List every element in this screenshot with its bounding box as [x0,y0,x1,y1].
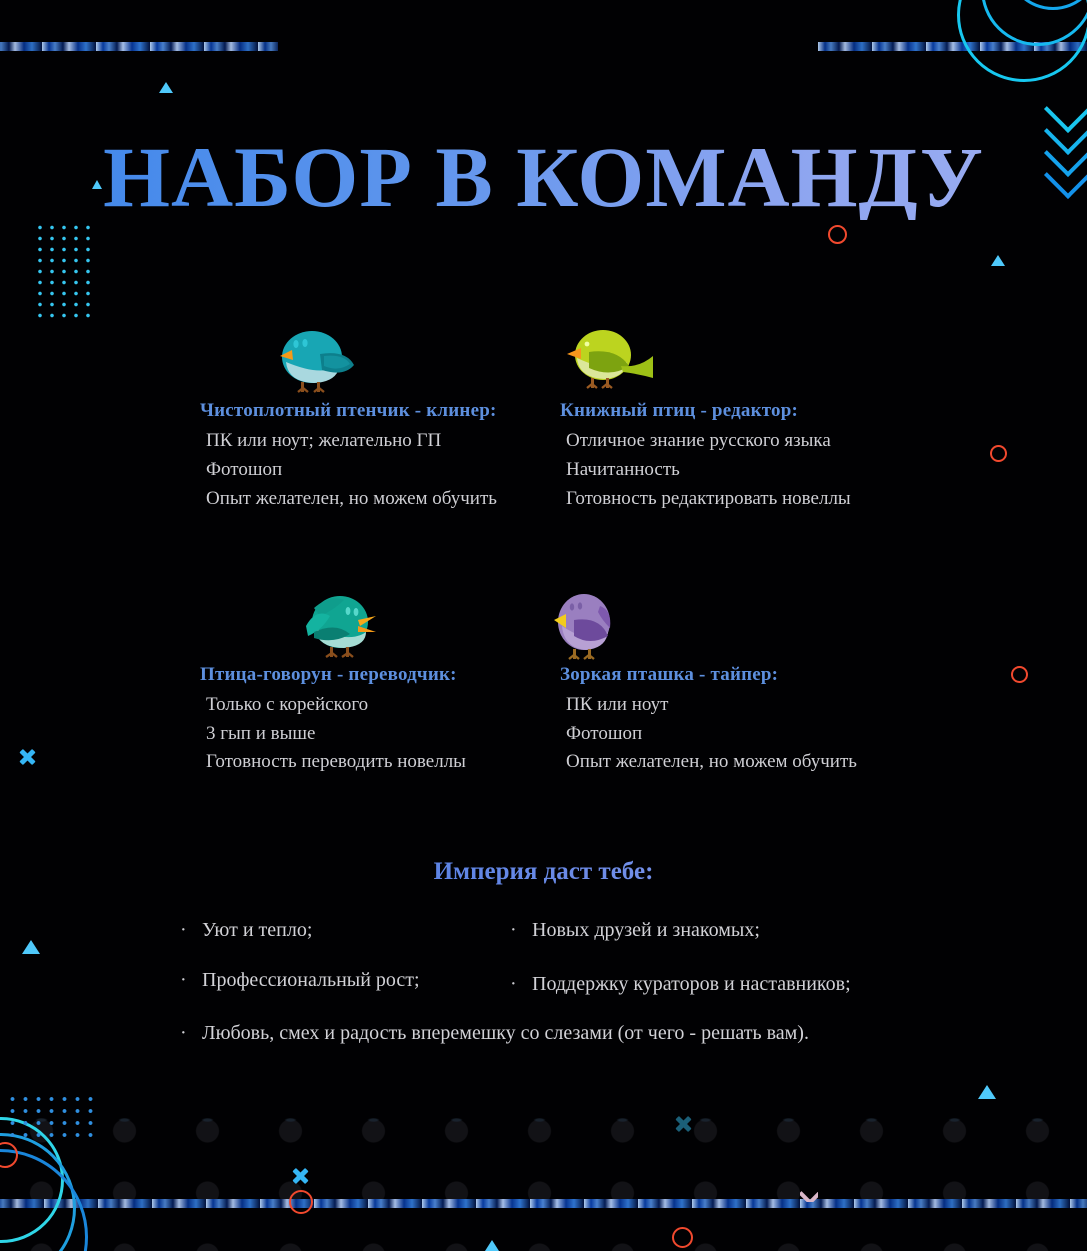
list-item: · Уют и тепло; [180,918,510,942]
concentric-ring-icon [1006,0,1087,10]
role-requirement: Фотошоп [566,720,960,749]
bullet-icon: · [180,968,202,992]
talking-bird-icon [200,586,560,658]
page-title: НАБОР В КОМАНДУ [0,134,1087,220]
texture-band-top-left [0,42,278,51]
teal-bird-icon [200,322,560,394]
role-requirement: Отличное знание русского языка [566,427,960,456]
triangle-icon [485,1240,499,1251]
perk-text: Любовь, смех и радость вперемешку со сле… [202,1022,809,1045]
role-card-editor: Книжный птиц - редактор: Отличное знание… [560,322,960,514]
role-requirement: Готовность редактировать новеллы [566,485,960,514]
role-title: Чистоплотный птенчик - клинер: [200,400,560,422]
bullet-icon: · [510,972,532,996]
chevron-down-icon [1051,92,1085,126]
purple-bird-icon [560,586,960,658]
concentric-ring-icon [981,0,1087,46]
triangle-icon [978,1085,996,1099]
list-item: · Профессиональный рост; [180,968,510,992]
list-item: · Новых друзей и знакомых; [510,918,930,942]
perks-title: Империя даст тебе: [0,858,1087,886]
role-requirement: Начитанность [566,456,960,485]
speck-row-pattern [0,1112,1087,1128]
role-card-translator: Птица-говорун - переводчик: Только с кор… [200,586,560,778]
bullet-icon: · [180,918,202,942]
role-requirement: 3 гып и выше [206,720,560,749]
dot-grid-bottom-left [6,1093,96,1143]
role-card-cleaner: Чистоплотный птенчик - клинер: ПК или но… [200,322,560,514]
perk-text: Профессиональный рост; [202,968,420,992]
role-requirement: Только с корейского [206,691,560,720]
perk-text: Новых друзей и знакомых; [532,918,760,942]
concentric-ring-icon [0,1149,88,1251]
role-requirement: ПК или ноут; желательно ГП [206,427,560,456]
texture-band-bottom [0,1199,1087,1208]
perks-section: · Уют и тепло; · Профессиональный рост; … [0,918,1087,1045]
list-item: · Поддержку кураторов и наставников; [510,972,930,996]
texture-band-top-right [818,42,1087,51]
roles-row-1: Чистоплотный птенчик - клинер: ПК или но… [0,322,1087,514]
perk-text: Поддержку кураторов и наставников; [532,972,851,996]
role-requirement: ПК или ноут [566,691,960,720]
perks-columns: · Уют и тепло; · Профессиональный рост; … [0,918,1087,1022]
x-mark-icon [291,1167,309,1185]
small-chevron-icon [800,1190,818,1202]
triangle-icon [991,255,1005,266]
polka-dot-pattern [0,1100,1087,1251]
roles-section: Чистоплотный птенчик - клинер: ПК или но… [0,322,1087,777]
role-requirement: Фотошоп [206,456,560,485]
circle-outline-icon [828,225,847,244]
green-bird-icon [560,322,960,394]
role-requirement: Опыт желателен, но можем обучить [206,485,560,514]
dot-grid-top-left [34,222,92,324]
concentric-ring-icon [0,1133,76,1251]
circle-outline-icon [672,1227,693,1248]
perks-column-left: · Уют и тепло; · Профессиональный рост; [180,918,510,1022]
bullet-icon: · [510,918,532,942]
bullet-icon: · [180,1022,202,1045]
role-requirement: Опыт желателен, но можем обучить [566,748,960,777]
role-title: Птица-говорун - переводчик: [200,664,560,686]
perks-column-right: · Новых друзей и знакомых; · Поддержку к… [510,918,930,1022]
concentric-ring-icon [957,0,1087,82]
roles-row-2: Птица-говорун - переводчик: Только с кор… [0,586,1087,778]
role-requirement: Готовность переводить новеллы [206,748,560,777]
perk-text: Уют и тепло; [202,918,312,942]
role-card-typer: Зоркая пташка - тайпер: ПК или ноут Фото… [560,586,960,778]
list-item: · Любовь, смех и радость вперемешку со с… [180,1022,1087,1045]
concentric-ring-icon [0,1117,64,1243]
role-title: Книжный птиц - редактор: [560,400,960,422]
circle-outline-icon [289,1190,313,1214]
triangle-icon [159,82,173,93]
circle-outline-icon [0,1142,18,1168]
recruitment-poster: НАБОР В КОМАНДУ [0,0,1087,1251]
role-title: Зоркая пташка - тайпер: [560,664,960,686]
x-mark-icon [674,1115,692,1133]
